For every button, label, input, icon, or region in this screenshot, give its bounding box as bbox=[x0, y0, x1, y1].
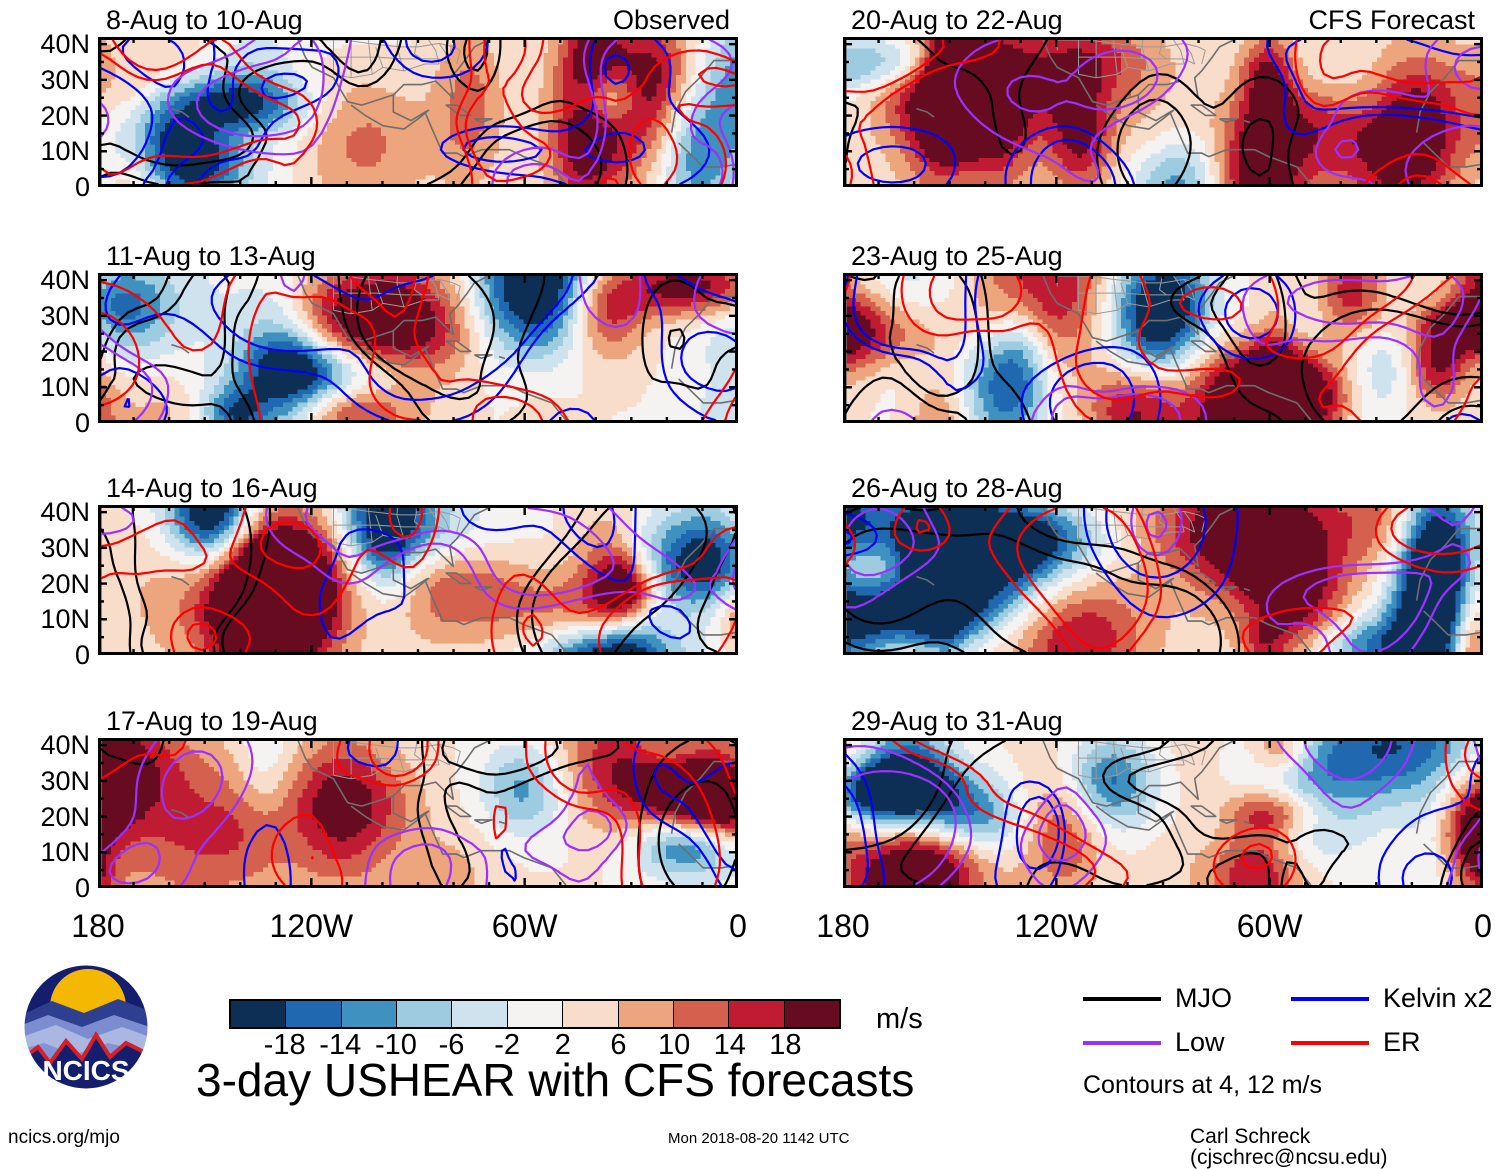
y-axis-tick-label: 0 bbox=[6, 410, 90, 437]
map-panel[interactable] bbox=[843, 273, 1483, 423]
legend-label: MJO bbox=[1175, 985, 1232, 1012]
y-axis-tick-label: 0 bbox=[6, 174, 90, 201]
logo-wordmark: NCICS bbox=[42, 1055, 129, 1086]
panel-title: 23-Aug to 25-Aug bbox=[851, 243, 1063, 270]
legend-item-mjo: MJO bbox=[1083, 985, 1232, 1012]
legend-item-low: Low bbox=[1083, 1029, 1225, 1056]
panel-title: 20-Aug to 22-Aug bbox=[851, 7, 1063, 34]
panel-title: 29-Aug to 31-Aug bbox=[851, 708, 1063, 735]
map-panel[interactable] bbox=[843, 738, 1483, 888]
y-axis-tick-label: 30N bbox=[6, 535, 90, 562]
colorbar-swatch bbox=[674, 1001, 729, 1027]
y-axis-tick-label: 20N bbox=[6, 103, 90, 130]
panel-title: 17-Aug to 19-Aug bbox=[106, 708, 318, 735]
colorbar bbox=[229, 999, 841, 1029]
colorbar-swatch bbox=[729, 1001, 784, 1027]
colorbar-swatch bbox=[785, 1001, 839, 1027]
map-panel[interactable] bbox=[98, 738, 738, 888]
legend-item-er: ER bbox=[1291, 1029, 1421, 1056]
legend-label: Kelvin x2 bbox=[1383, 985, 1493, 1012]
x-axis-tick-label: 180 bbox=[816, 910, 869, 942]
colorbar-swatch bbox=[286, 1001, 341, 1027]
legend-swatch-line bbox=[1291, 1041, 1369, 1045]
colorbar-swatch bbox=[231, 1001, 286, 1027]
figure-title: 3-day USHEAR with CFS forecasts bbox=[196, 1057, 914, 1103]
colorbar-swatch bbox=[619, 1001, 674, 1027]
y-axis-tick-label: 0 bbox=[6, 642, 90, 669]
legend-label: ER bbox=[1383, 1029, 1421, 1056]
map-panel[interactable] bbox=[843, 37, 1483, 187]
panel-title: 14-Aug to 16-Aug bbox=[106, 475, 318, 502]
x-axis-tick-label: 120W bbox=[270, 910, 354, 942]
y-axis-tick-label: 10N bbox=[6, 374, 90, 401]
colorbar-swatch bbox=[563, 1001, 618, 1027]
y-axis-tick-label: 30N bbox=[6, 768, 90, 795]
legend-item-kelvin-x2: Kelvin x2 bbox=[1291, 985, 1493, 1012]
footer-timestamp: Mon 2018-08-20 1142 UTC bbox=[668, 1131, 850, 1146]
colorbar-swatch bbox=[508, 1001, 563, 1027]
legend-swatch-line bbox=[1291, 997, 1369, 1001]
y-axis-tick-label: 30N bbox=[6, 303, 90, 330]
legend-swatch-line bbox=[1083, 997, 1161, 1001]
contour-legend: Contours at 4, 12 m/s MJOKelvin x2LowER bbox=[1083, 985, 1503, 1105]
column-tag-observed: Observed bbox=[520, 7, 730, 34]
map-panel[interactable] bbox=[98, 273, 738, 423]
colorbar-swatch bbox=[342, 1001, 397, 1027]
legend-label: Low bbox=[1175, 1029, 1225, 1056]
y-axis-tick-label: 40N bbox=[6, 267, 90, 294]
contour-levels-note: Contours at 4, 12 m/s bbox=[1083, 1073, 1322, 1098]
x-axis-tick-label: 120W bbox=[1015, 910, 1099, 942]
footer-site-link[interactable]: ncics.org/mjo bbox=[8, 1128, 120, 1147]
y-axis-tick-label: 10N bbox=[6, 138, 90, 165]
colorbar-swatch bbox=[452, 1001, 507, 1027]
panel-title: 26-Aug to 28-Aug bbox=[851, 475, 1063, 502]
x-axis-tick-label: 180 bbox=[71, 910, 124, 942]
panel-title: 8-Aug to 10-Aug bbox=[106, 7, 303, 34]
footer-author: Carl Schreck (cjschrec@ncsu.edu) bbox=[1190, 1126, 1510, 1168]
ncics-logo: NCICS bbox=[22, 963, 150, 1091]
map-panel[interactable] bbox=[98, 37, 738, 187]
x-axis-tick-label: 0 bbox=[1474, 910, 1492, 942]
column-tag-forecast: CFS Forecast bbox=[1265, 7, 1475, 34]
panel-title: 11-Aug to 13-Aug bbox=[106, 243, 316, 270]
x-axis-tick-label: 0 bbox=[729, 910, 747, 942]
map-panel[interactable] bbox=[843, 505, 1483, 655]
y-axis-tick-label: 10N bbox=[6, 839, 90, 866]
legend-swatch-line bbox=[1083, 1041, 1161, 1045]
colorbar-swatch bbox=[397, 1001, 452, 1027]
y-axis-tick-label: 20N bbox=[6, 804, 90, 831]
x-axis-tick-label: 60W bbox=[1237, 910, 1303, 942]
y-axis-tick-label: 20N bbox=[6, 339, 90, 366]
y-axis-tick-label: 40N bbox=[6, 31, 90, 58]
y-axis-tick-label: 40N bbox=[6, 732, 90, 759]
y-axis-tick-label: 20N bbox=[6, 571, 90, 598]
colorbar-units-label: m/s bbox=[876, 1005, 923, 1034]
map-panel[interactable] bbox=[98, 505, 738, 655]
y-axis-tick-label: 0 bbox=[6, 875, 90, 902]
x-axis-tick-label: 60W bbox=[492, 910, 558, 942]
y-axis-tick-label: 10N bbox=[6, 606, 90, 633]
y-axis-tick-label: 40N bbox=[6, 499, 90, 526]
y-axis-tick-label: 30N bbox=[6, 67, 90, 94]
